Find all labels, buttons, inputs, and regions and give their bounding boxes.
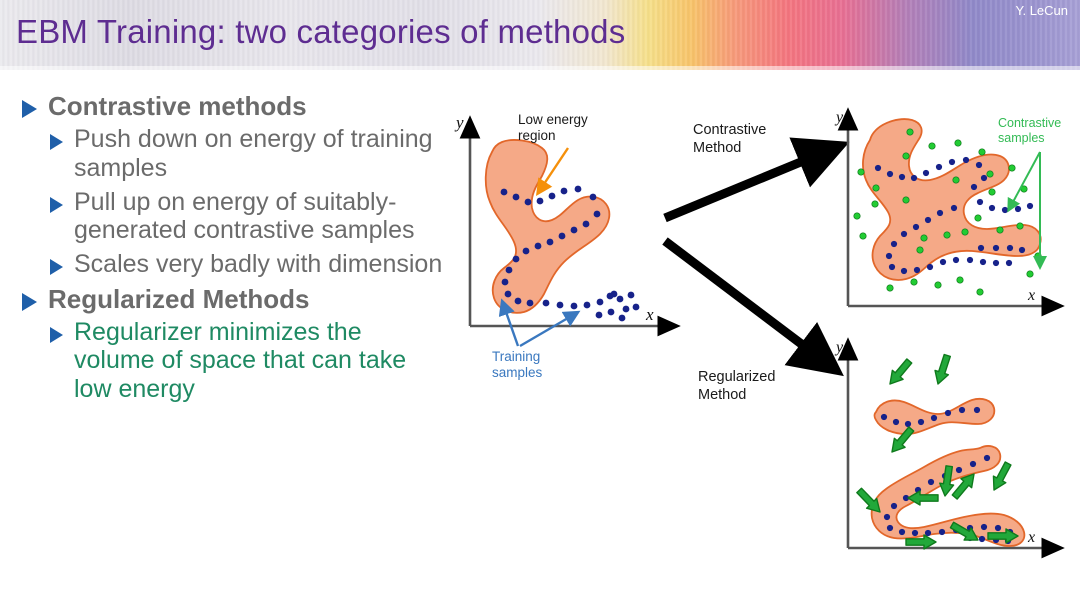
regularized-method-label-line2: Method	[698, 387, 746, 403]
low-energy-region-label-line2: region	[518, 128, 556, 143]
low-energy-region-arrow	[544, 148, 568, 184]
author-label: Y. LeCun	[1015, 3, 1068, 18]
contrastive-samples-arrow-left	[1013, 152, 1040, 202]
svg-text:y: y	[454, 113, 464, 132]
bullet-triangle-icon	[22, 100, 37, 118]
svg-text:x: x	[645, 305, 654, 324]
contrastive-panel: y x	[834, 109, 1061, 306]
slide-header: EBM Training: two categories of methods …	[0, 0, 1080, 70]
slide-root: EBM Training: two categories of methods …	[0, 0, 1080, 606]
contrastive-flow-arrow	[665, 159, 808, 218]
contrastive-samples-label-line1: Contrastive	[998, 116, 1061, 130]
bullet-text: Regularizer minimizes the volume of spac…	[74, 318, 448, 403]
svg-text:y: y	[834, 339, 844, 356]
low-energy-manifold	[486, 140, 610, 313]
low-energy-ribbon-main	[872, 446, 1025, 546]
training-samples-arrow-right	[520, 318, 568, 346]
training-samples-label-line1: Training	[492, 349, 540, 364]
training-samples-annotation: Training samples	[492, 312, 568, 380]
bullet-triangle-icon	[22, 293, 37, 311]
bullet-text: Push down on energy of training samples	[74, 125, 448, 182]
training-samples-arrow-left	[506, 312, 518, 346]
low-energy-region-label-line1: Low energy	[518, 112, 588, 127]
bullet-text: Regularized Methods	[48, 285, 309, 314]
list-item: Contrastive methods	[22, 92, 448, 121]
contrastive-method-label-line2: Method	[693, 140, 741, 156]
push-arrow	[885, 357, 915, 389]
list-item: Push down on energy of training samples	[50, 125, 448, 182]
bullet-triangle-icon	[50, 134, 63, 150]
page-title: EBM Training: two categories of methods	[16, 13, 625, 51]
training-dots-tail	[543, 291, 640, 322]
bullet-text: Scales very badly with dimension	[74, 250, 442, 278]
source-panel: y x	[454, 112, 660, 380]
bullet-text: Contrastive methods	[48, 92, 307, 121]
list-item: Regularized Methods	[22, 285, 448, 314]
list-item: Pull up on energy of suitably-generated …	[50, 188, 448, 245]
bullet-text: Pull up on energy of suitably-generated …	[74, 188, 448, 245]
regularized-method-label-line1: Regularized	[698, 369, 775, 385]
contrastive-method-label-line1: Contrastive	[693, 122, 766, 138]
list-item: Scales very badly with dimension	[50, 250, 448, 278]
bullet-triangle-icon	[50, 327, 63, 343]
svg-text:x: x	[1027, 287, 1035, 304]
svg-text:y: y	[834, 109, 844, 126]
training-samples-label-line2: samples	[492, 365, 543, 380]
flow-arrows: Contrastive Method Regularized Method	[665, 122, 808, 403]
regularized-panel: y x	[834, 339, 1044, 549]
ebm-diagram: y x	[450, 96, 1080, 596]
bullet-triangle-icon	[50, 259, 63, 275]
regularized-flow-arrow	[665, 241, 808, 349]
bullet-triangle-icon	[50, 197, 63, 213]
list-item: Regularizer minimizes the volume of spac…	[50, 318, 448, 403]
svg-text:x: x	[1027, 529, 1035, 546]
push-arrow	[931, 353, 954, 386]
bullet-list: Contrastive methods Push down on energy …	[18, 92, 448, 409]
contrastive-samples-label-line2: samples	[998, 131, 1045, 145]
header-bottom-edge	[0, 66, 1080, 70]
